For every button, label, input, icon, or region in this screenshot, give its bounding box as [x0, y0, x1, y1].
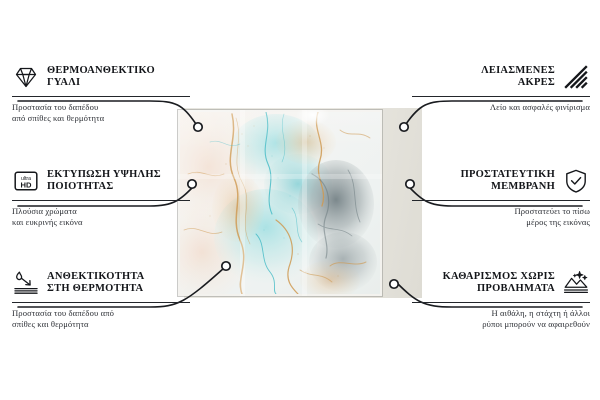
ultra-hd-icon: ultra HD: [12, 167, 40, 195]
feature-header: ΑΝΘΕΚΤΙΚΟΤΗΤΑ ΣΤΗ ΘΕΡΜΟΤΗΤΑ: [12, 268, 190, 298]
heat-resistance-icon: [12, 269, 40, 297]
feature-header: ultra HD ΕΚΤΥΠΩΣΗ ΥΨΗΛΗΣ ΠΟΙΟΤΗΤΑΣ: [12, 166, 190, 196]
divider: [12, 200, 190, 201]
feature-heat-durability: ΑΝΘΕΚΤΙΚΟΤΗΤΑ ΣΤΗ ΘΕΡΜΟΤΗΤΑ Προστασία το…: [12, 268, 190, 330]
feature-header: ΛΕΙΑΣΜΕΝΕΣ ΑΚΡΕΣ: [412, 62, 590, 92]
glass-panel: [178, 110, 382, 296]
infographic-canvas: ΘΕΡΜΟΑΝΘΕΚΤΙΚΟ ΓΥΑΛΙ Προστασία του δαπέδ…: [0, 0, 600, 400]
feature-title: ΛΕΙΑΣΜΕΝΕΣ ΑΚΡΕΣ: [412, 65, 555, 90]
feature-title: ΠΡΟΣΤΑΤΕΥΤΙΚΗ ΜΕΜΒΡΑΝΗ: [412, 169, 555, 194]
divider: [12, 96, 190, 97]
divider: [412, 96, 590, 97]
feature-heat-resistant-glass: ΘΕΡΜΟΑΝΘΕΚΤΙΚΟ ΓΥΑΛΙ Προστασία του δαπέδ…: [12, 62, 190, 124]
feature-easy-cleaning: ΚΑΘΑΡΙΣΜΟΣ ΧΩΡΙΣ ΠΡΟΒΛΗΜΑΤΑ Η αιθάλη, η …: [412, 268, 590, 330]
feature-description: Λείο και ασφαλές φινίρισμα: [412, 102, 590, 113]
feature-header: ΘΕΡΜΟΑΝΘΕΚΤΙΚΟ ΓΥΑΛΙ: [12, 62, 190, 92]
feature-header: ΠΡΟΣΤΑΤΕΥΤΙΚΗ ΜΕΜΒΡΑΝΗ: [412, 166, 590, 196]
feature-title: ΑΝΘΕΚΤΙΚΟΤΗΤΑ ΣΤΗ ΘΕΡΜΟΤΗΤΑ: [47, 271, 190, 296]
divider: [412, 200, 590, 201]
product-image: [178, 108, 422, 298]
feature-description: Πλούσια χρώματα και ευκρινής εικόνα: [12, 206, 190, 228]
divider: [12, 302, 190, 303]
feature-title: ΚΑΘΑΡΙΣΜΟΣ ΧΩΡΙΣ ΠΡΟΒΛΗΜΑΤΑ: [412, 271, 555, 296]
feature-description: Προστασία του δαπέδου από σπίθες και θερ…: [12, 308, 190, 330]
easy-cleaning-icon: [562, 269, 590, 297]
feature-title: ΕΚΤΥΠΩΣΗ ΥΨΗΛΗΣ ΠΟΙΟΤΗΤΑΣ: [47, 169, 190, 194]
feature-title: ΘΕΡΜΟΑΝΘΕΚΤΙΚΟ ΓΥΑΛΙ: [47, 65, 190, 90]
divider: [412, 302, 590, 303]
marble-artwork: [180, 112, 380, 294]
feature-description: Προστατεύει το πίσω μέρος της εικόνας: [412, 206, 590, 228]
feature-smooth-edges: ΛΕΙΑΣΜΕΝΕΣ ΑΚΡΕΣ Λείο και ασφαλές φινίρι…: [412, 62, 590, 113]
svg-text:HD: HD: [21, 180, 32, 189]
diamond-icon: [12, 63, 40, 91]
feature-description: Προστασία του δαπέδου από σπίθες και θερ…: [12, 102, 190, 124]
smooth-edges-icon: [562, 63, 590, 91]
shield-check-icon: [562, 167, 590, 195]
feature-protective-membrane: ΠΡΟΣΤΑΤΕΥΤΙΚΗ ΜΕΜΒΡΑΝΗ Προστατεύει το πί…: [412, 166, 590, 228]
feature-high-quality-print: ultra HD ΕΚΤΥΠΩΣΗ ΥΨΗΛΗΣ ΠΟΙΟΤΗΤΑΣ Πλούσ…: [12, 166, 190, 228]
feature-description: Η αιθάλη, η στάχτη ή άλλοι ρύποι μπορούν…: [412, 308, 590, 330]
feature-header: ΚΑΘΑΡΙΣΜΟΣ ΧΩΡΙΣ ΠΡΟΒΛΗΜΑΤΑ: [412, 268, 590, 298]
